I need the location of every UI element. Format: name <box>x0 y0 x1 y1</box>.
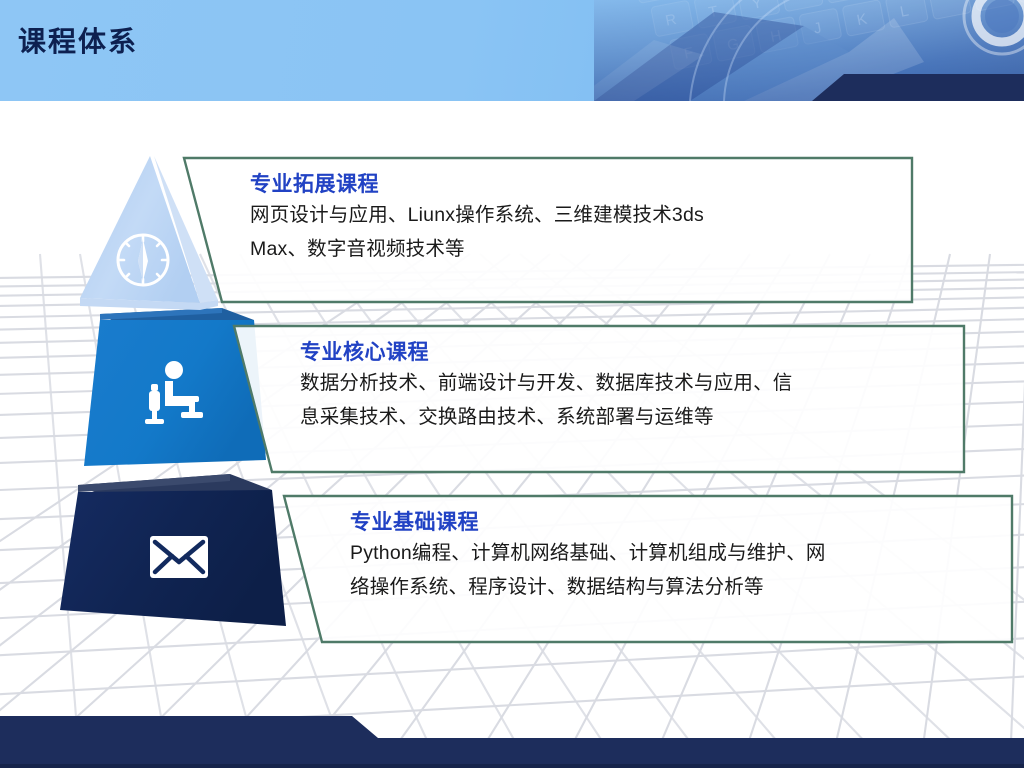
slide-header: 45 67 89 0 RT YU IO FG HJ KL <box>0 0 1024 101</box>
course-card-body-line: Python编程、计算机网络基础、计算机组成与维护、网 <box>350 536 980 570</box>
course-card-body-line: 息采集技术、交换路由技术、系统部署与运维等 <box>300 400 936 434</box>
course-card-title: 专业基础课程 <box>350 510 980 536</box>
course-card-extension[interactable]: 专业拓展课程 网页设计与应用、Liunx操作系统、三维建模技术3ds Max、数… <box>178 152 918 308</box>
header-keyboard-image: 45 67 89 0 RT YU IO FG HJ KL <box>594 0 1024 101</box>
slide-canvas: 45 67 89 0 RT YU IO FG HJ KL <box>0 0 1024 768</box>
course-card-title: 专业拓展课程 <box>250 172 882 198</box>
course-card-foundation[interactable]: 专业基础课程 Python编程、计算机网络基础、计算机组成与维护、网 络操作系统… <box>278 490 1018 648</box>
course-card-body-line: 络操作系统、程序设计、数据结构与算法分析等 <box>350 570 980 604</box>
page-title: 课程体系 <box>18 24 138 60</box>
course-card-core[interactable]: 专业核心课程 数据分析技术、前端设计与开发、数据库技术与应用、信 息采集技术、交… <box>228 320 970 478</box>
header-divider-rule <box>0 100 1024 106</box>
course-card-body-line: Max、数字音视频技术等 <box>250 232 882 266</box>
course-card-body-line: 数据分析技术、前端设计与开发、数据库技术与应用、信 <box>300 366 936 400</box>
course-card-body: 网页设计与应用、Liunx操作系统、三维建模技术3ds Max、数字音视频技术等 <box>250 198 882 266</box>
course-card-title: 专业核心课程 <box>300 340 936 366</box>
course-card-body: 数据分析技术、前端设计与开发、数据库技术与应用、信 息采集技术、交换路由技术、系… <box>300 366 936 434</box>
course-card-body: Python编程、计算机网络基础、计算机组成与维护、网 络操作系统、程序设计、数… <box>350 536 980 604</box>
course-card-body-line: 网页设计与应用、Liunx操作系统、三维建模技术3ds <box>250 198 882 232</box>
slide-footer-bar <box>0 712 1024 768</box>
